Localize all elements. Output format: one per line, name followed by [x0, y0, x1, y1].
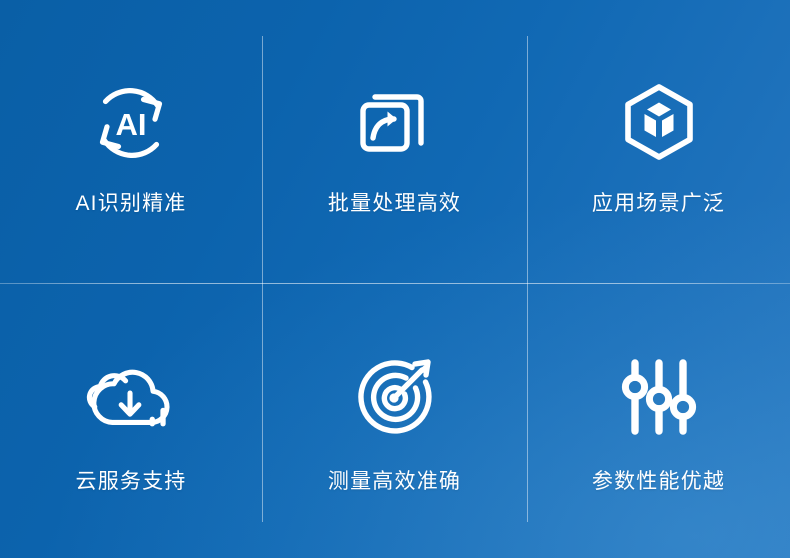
feature-card-measurement-accuracy[interactable]: 测量高效准确	[262, 283, 527, 558]
feature-card-cloud-service[interactable]: 云服务支持	[0, 283, 262, 558]
ai-circular-arrows-icon: AI	[83, 75, 179, 171]
feature-card-application-scenarios[interactable]: 应用场景广泛	[527, 0, 790, 283]
feature-card-parameter-performance[interactable]: 参数性能优越	[527, 283, 790, 558]
batch-layers-arrow-icon	[347, 75, 443, 171]
feature-label: 参数性能优越	[592, 471, 725, 492]
hexagon-cube-icon	[611, 75, 707, 171]
ai-icon-text: AI	[116, 107, 147, 142]
feature-label: 云服务支持	[76, 471, 187, 492]
feature-label: AI识别精准	[75, 193, 186, 214]
cloud-download-chart-icon	[83, 349, 179, 445]
target-arrow-icon	[347, 349, 443, 445]
feature-banner: AI AI识别精准 批量处理高效	[0, 0, 790, 558]
feature-label: 测量高效准确	[328, 471, 461, 492]
feature-card-ai-recognition[interactable]: AI AI识别精准	[0, 0, 262, 283]
sliders-settings-icon	[611, 349, 707, 445]
feature-label: 应用场景广泛	[592, 193, 725, 214]
feature-label: 批量处理高效	[328, 193, 461, 214]
feature-grid: AI AI识别精准 批量处理高效	[0, 0, 790, 558]
feature-card-batch-processing[interactable]: 批量处理高效	[262, 0, 527, 283]
